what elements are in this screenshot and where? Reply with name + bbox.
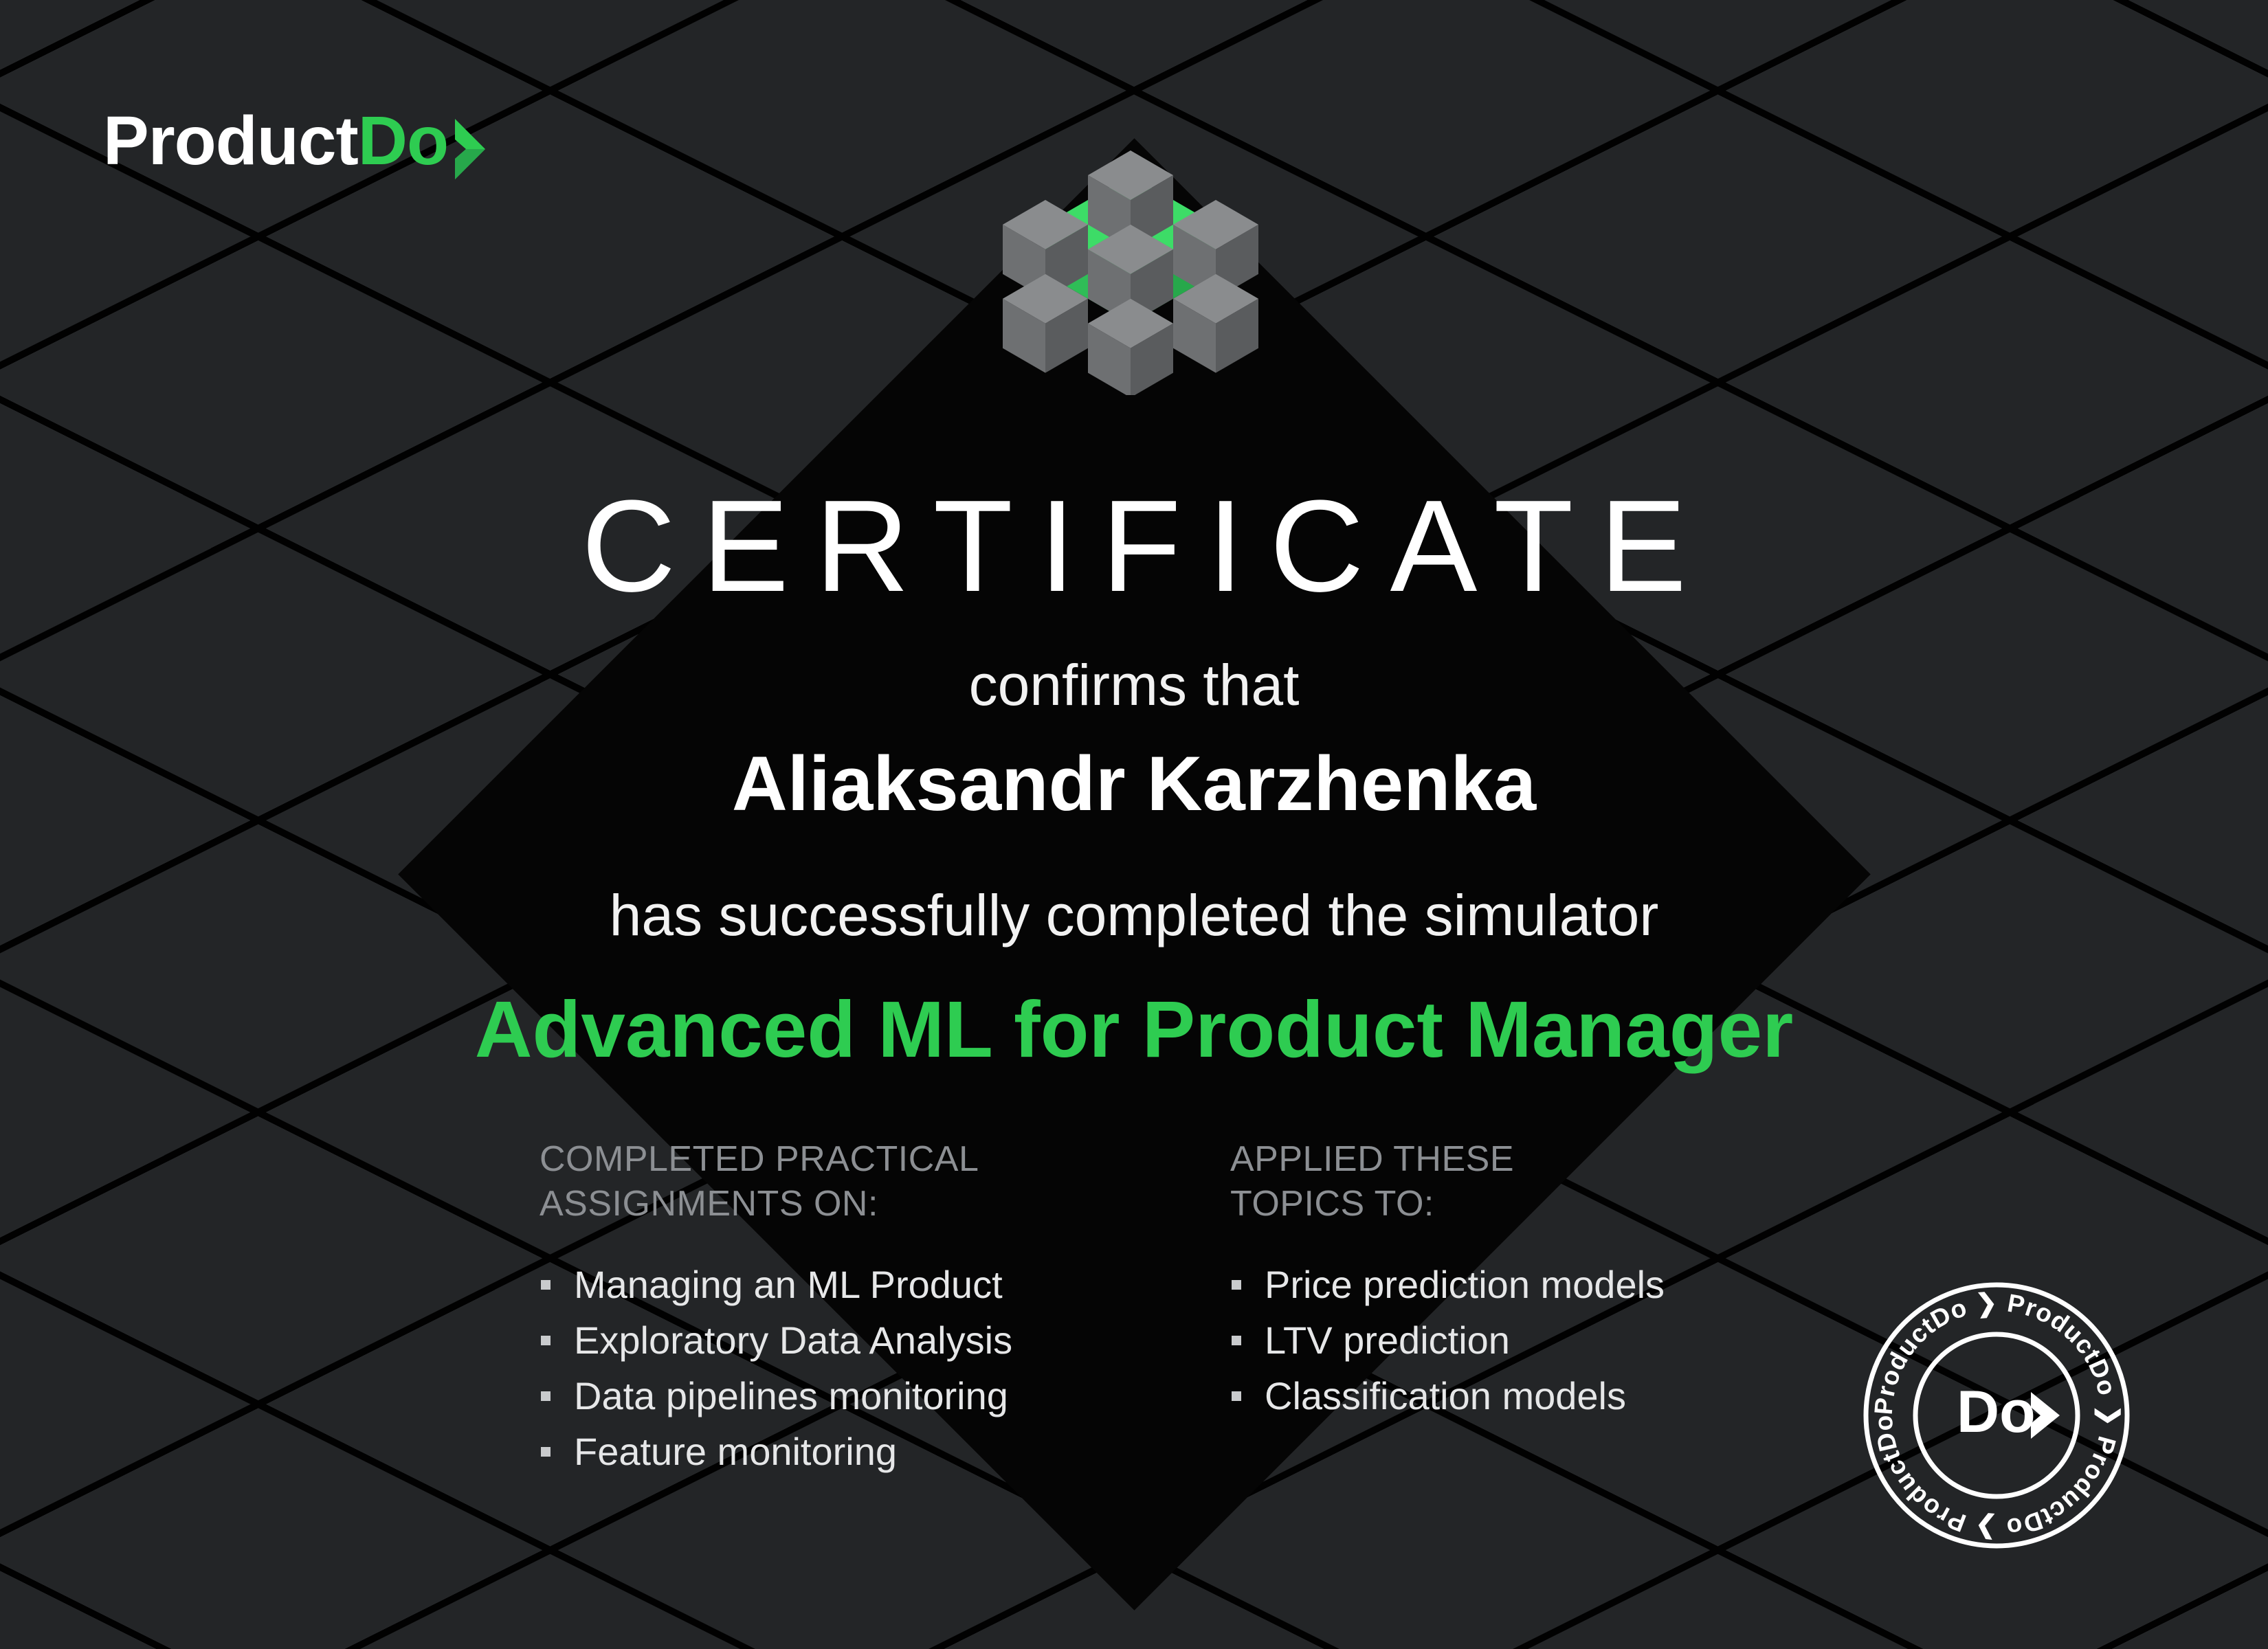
completed-assignments-list: Managing an ML Product Exploratory Data … [540, 1262, 1158, 1474]
completed-assignments-column: COMPLETED PRACTICAL ASSIGNMENTS ON: Mana… [540, 1137, 1158, 1485]
square-bullet-icon [1232, 1391, 1241, 1401]
list-item: Feature monitoring [540, 1429, 1158, 1474]
square-bullet-icon [1232, 1280, 1241, 1290]
square-bullet-icon [541, 1280, 551, 1290]
confirms-label: confirms that [0, 656, 2268, 714]
applied-topics-heading: APPLIED THESE TOPICS TO: [1230, 1137, 1849, 1226]
completion-statement: has successfully completed the simulator [0, 886, 2268, 944]
list-item: Managing an ML Product [540, 1262, 1158, 1308]
list-item: Price prediction models [1230, 1262, 1849, 1308]
applied-topics-column: APPLIED THESE TOPICS TO: Price predictio… [1230, 1137, 1849, 1429]
brand-name-do: Do [358, 102, 448, 179]
square-bullet-icon [1232, 1336, 1241, 1345]
square-bullet-icon [541, 1336, 551, 1345]
isometric-cubes-logo [979, 93, 1282, 395]
list-item-label: Exploratory Data Analysis [574, 1319, 1012, 1362]
chevron-right-icon [451, 116, 489, 182]
certificate-canvas: ProductDo [0, 0, 2268, 1649]
list-item-label: Classification models [1265, 1374, 1626, 1417]
list-item-label: LTV prediction [1265, 1319, 1510, 1362]
page-title: CERTIFICATE [0, 481, 2268, 612]
list-item-label: Data pipelines monitoring [574, 1374, 1008, 1417]
brand-name-product: Product [103, 102, 358, 179]
applied-topics-list: Price prediction models LTV prediction C… [1230, 1262, 1849, 1419]
course-title: Advanced ML for Product Manager [0, 989, 2268, 1069]
recipient-name: Aliaksandr Karzhenka [0, 745, 2268, 822]
list-item-label: Feature monitoring [574, 1430, 897, 1473]
list-item: Exploratory Data Analysis [540, 1318, 1158, 1363]
square-bullet-icon [541, 1447, 551, 1457]
product-do-stamp-seal: ProductDo ❯ ProductDo ❯ ProductDo ❯ Prod… [1849, 1268, 2144, 1563]
svg-text:Do: Do [1957, 1379, 2036, 1445]
brand-logo: ProductDo [103, 106, 489, 179]
list-item: Data pipelines monitoring [540, 1373, 1158, 1419]
square-bullet-icon [541, 1391, 551, 1401]
list-item: Classification models [1230, 1373, 1849, 1419]
list-item-label: Managing an ML Product [574, 1263, 1003, 1306]
list-item: LTV prediction [1230, 1318, 1849, 1363]
list-item-label: Price prediction models [1265, 1263, 1665, 1306]
completed-assignments-heading: COMPLETED PRACTICAL ASSIGNMENTS ON: [540, 1137, 1158, 1226]
